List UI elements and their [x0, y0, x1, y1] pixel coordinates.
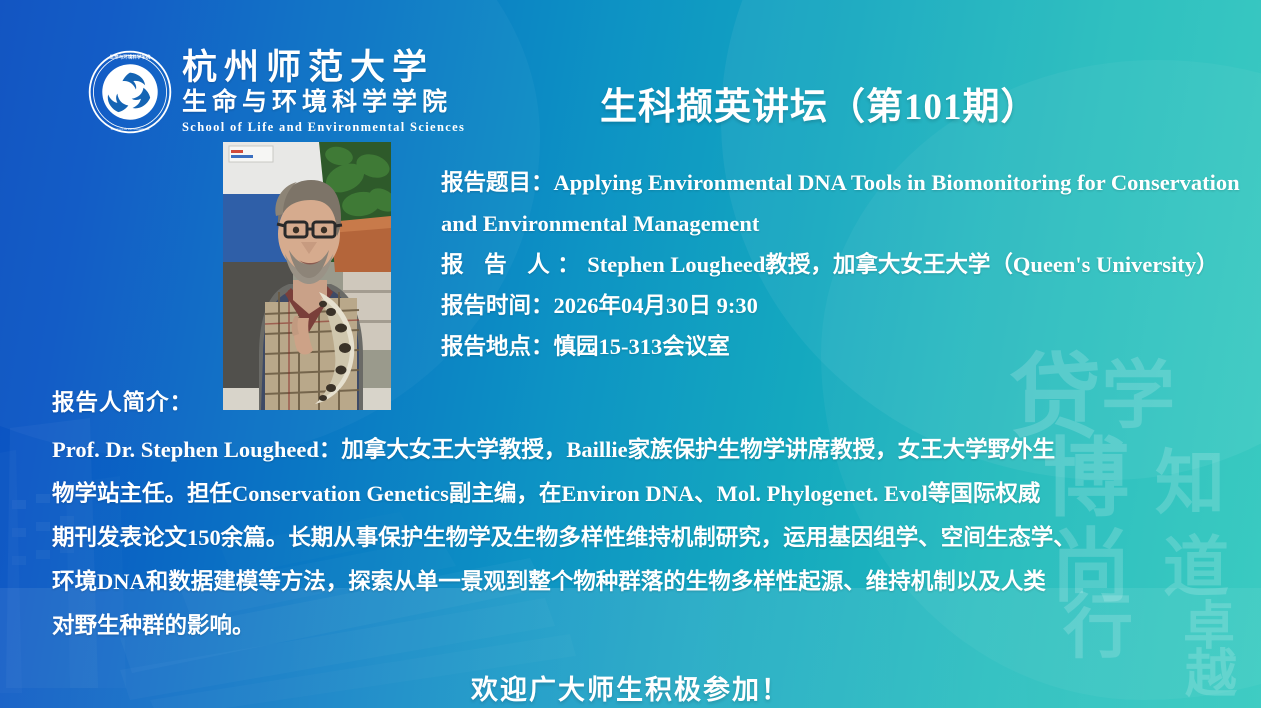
detail-label-speaker: 报 告 人： — [441, 252, 587, 277]
detail-value-topic: Applying Environmental DNA Tools in Biom… — [441, 170, 1240, 236]
bio-line: 期刊发表论文150余篇。长期从事保护生物学及生物多样性维持机制研究，运用基因组学… — [52, 516, 1252, 560]
seminar-details: 报告题目：Applying Environmental DNA Tools in… — [441, 162, 1241, 367]
detail-label-location: 报告地点： — [441, 334, 554, 359]
svg-text:School of Life and Environment: School of Life and Environmental — [111, 127, 150, 131]
detail-row-location: 报告地点：慎园15-313会议室 — [441, 326, 1241, 367]
school-logo: 生命与环境科学学院 School of Life and Environment… — [88, 50, 465, 134]
detail-value-speaker: Stephen Lougheed教授，加拿大女王大学（Queen's Unive… — [587, 252, 1218, 277]
page-title: 生科撷英讲坛（第101期） — [600, 76, 1039, 130]
school-emblem-icon: 生命与环境科学学院 School of Life and Environment… — [88, 50, 172, 134]
svg-text:生命与环境科学学院: 生命与环境科学学院 — [110, 53, 151, 60]
bio-heading: 报告人简介： — [52, 385, 193, 417]
detail-value-time: 2026年04月30日 9:30 — [554, 293, 758, 318]
logo-school-name: 生命与环境科学学院 — [182, 90, 465, 115]
logo-wordmark: 杭州师范大学 生命与环境科学学院 School of Life and Envi… — [182, 50, 465, 134]
detail-label-topic: 报告题目： — [441, 170, 554, 195]
footer-note: 欢迎广大师生积极参加！ — [0, 668, 1261, 707]
logo-university-name: 杭州师范大学 — [182, 50, 465, 85]
bio-line: Prof. Dr. Stephen Lougheed：加拿大女王大学教授，Bai… — [52, 428, 1252, 472]
detail-value-location: 慎园15-313会议室 — [554, 334, 730, 359]
detail-row-time: 报告时间：2026年04月30日 9:30 — [441, 285, 1241, 326]
bio-body: Prof. Dr. Stephen Lougheed：加拿大女王大学教授，Bai… — [52, 428, 1252, 648]
bio-line: 环境DNA和数据建模等方法，探索从单一景观到整个物种群落的生物多样性起源、维持机… — [52, 560, 1252, 604]
logo-school-name-en: School of Life and Environmental Science… — [182, 121, 465, 134]
bio-line: 物学站主任。担任Conservation Genetics副主编，在Enviro… — [52, 472, 1252, 516]
seminar-poster: 贷 学 博 知 尚 道 行 卓 越 生命与环境科学学院 — [0, 0, 1261, 708]
detail-label-time: 报告时间： — [441, 293, 554, 318]
speaker-photo — [223, 142, 391, 410]
detail-row-speaker: 报 告 人：Stephen Lougheed教授，加拿大女王大学（Queen's… — [441, 244, 1241, 285]
calligraphy-char-2: 学 — [1101, 360, 1175, 434]
bio-line: 对野生种群的影响。 — [52, 604, 1252, 648]
detail-row-topic: 报告题目：Applying Environmental DNA Tools in… — [441, 162, 1241, 244]
